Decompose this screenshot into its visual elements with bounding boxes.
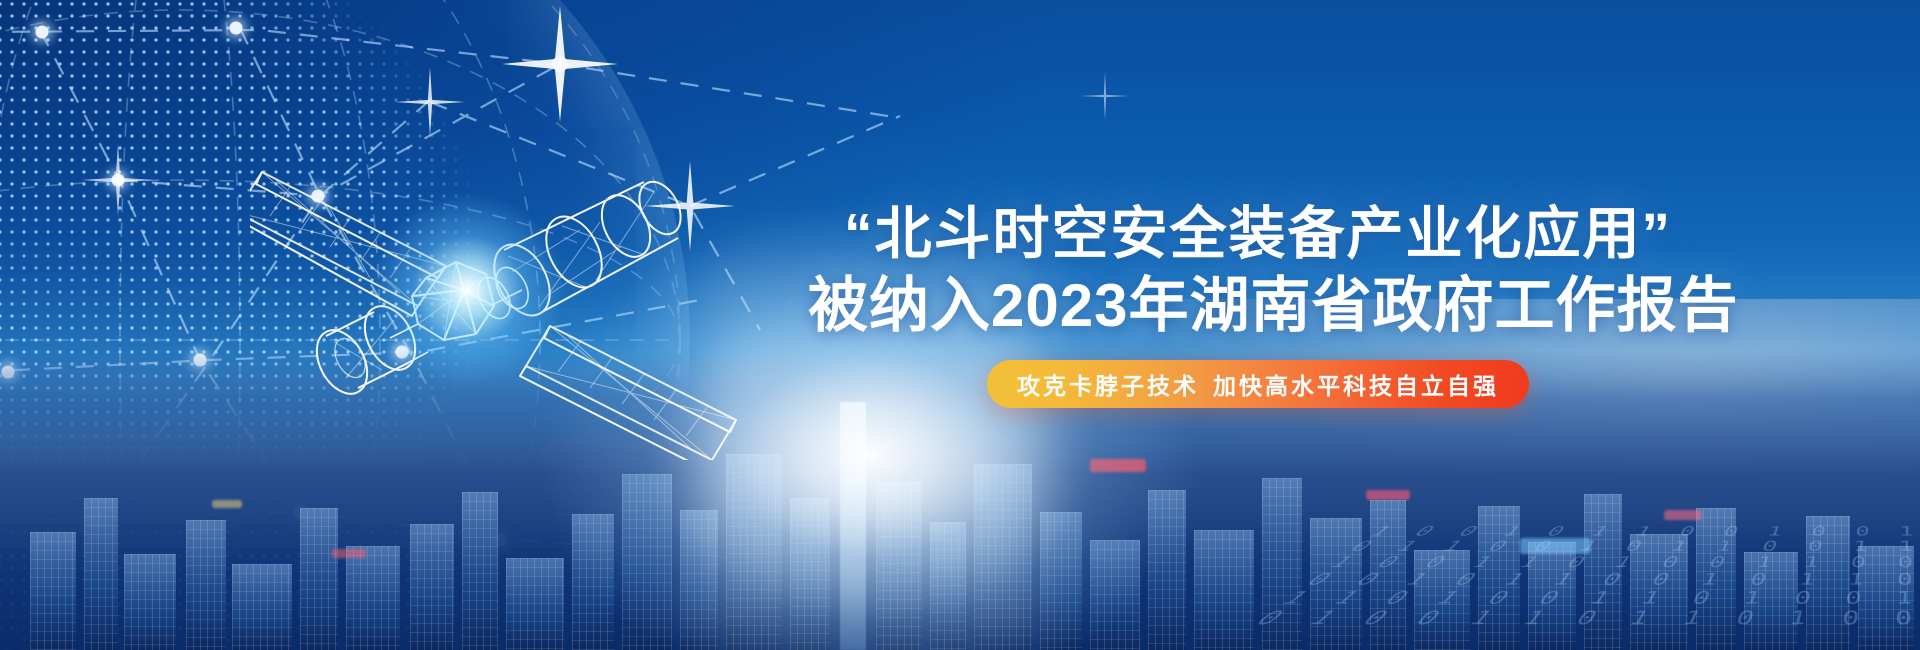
banner-copy: “北斗时空安全装备产业化应用” 被纳入2023年湖南省政府工作报告 攻克卡脖子技… [808,198,1708,408]
neon-sign [1090,459,1146,472]
building [1858,546,1914,650]
building [622,474,672,650]
building [1262,478,1302,650]
building [462,492,498,650]
banner-root: 1 0 0 1 0 1 1 0 0 1 0 0 1 1 0 1 0 1 0 1 … [0,0,1920,650]
neon-sign [1366,490,1410,500]
headline-line-1: “北斗时空安全装备产业化应用” [808,198,1708,270]
building [84,498,118,650]
building [1744,552,1798,650]
building [680,510,718,650]
neon-sign [212,500,242,508]
building [232,564,292,650]
building [1148,490,1186,650]
sparkle-star-icon [388,60,472,144]
neon-sign [332,549,366,558]
building [974,464,1032,650]
building [30,532,76,650]
neon-sign [1664,510,1702,520]
building [124,554,176,650]
network-node [36,26,49,39]
sparkle-star-icon [500,4,620,124]
building [1806,516,1850,650]
building [1194,530,1254,650]
building [1584,494,1622,650]
network-node [112,174,125,187]
building [506,558,564,650]
sparkle-star-icon [640,156,740,256]
neon-sign [1520,538,1590,554]
building [1478,506,1520,650]
building [930,522,966,650]
landmark-tower [840,402,866,650]
building [346,546,400,650]
building [1040,512,1082,650]
building [790,498,830,650]
building [572,514,614,650]
building [1310,518,1362,650]
network-node [230,22,243,35]
building [1696,508,1736,650]
building [1370,500,1406,650]
building [726,454,782,650]
building [1528,542,1576,650]
building [1414,550,1470,650]
tagline-part-1: 攻克卡脖子技术 [1017,367,1199,401]
sparkle-star-icon [1070,61,1140,131]
building [1630,534,1688,650]
building [300,508,338,650]
tagline-pill[interactable]: 攻克卡脖子技术 加快高水平科技自立自强 [987,360,1529,408]
building [876,482,922,650]
building [186,520,226,650]
building [410,524,454,650]
network-node [312,190,325,203]
headline-line-2: 被纳入2023年湖南省政府工作报告 [808,270,1708,342]
building [1090,540,1140,650]
tagline-part-2: 加快高水平科技自立自强 [1213,367,1499,401]
